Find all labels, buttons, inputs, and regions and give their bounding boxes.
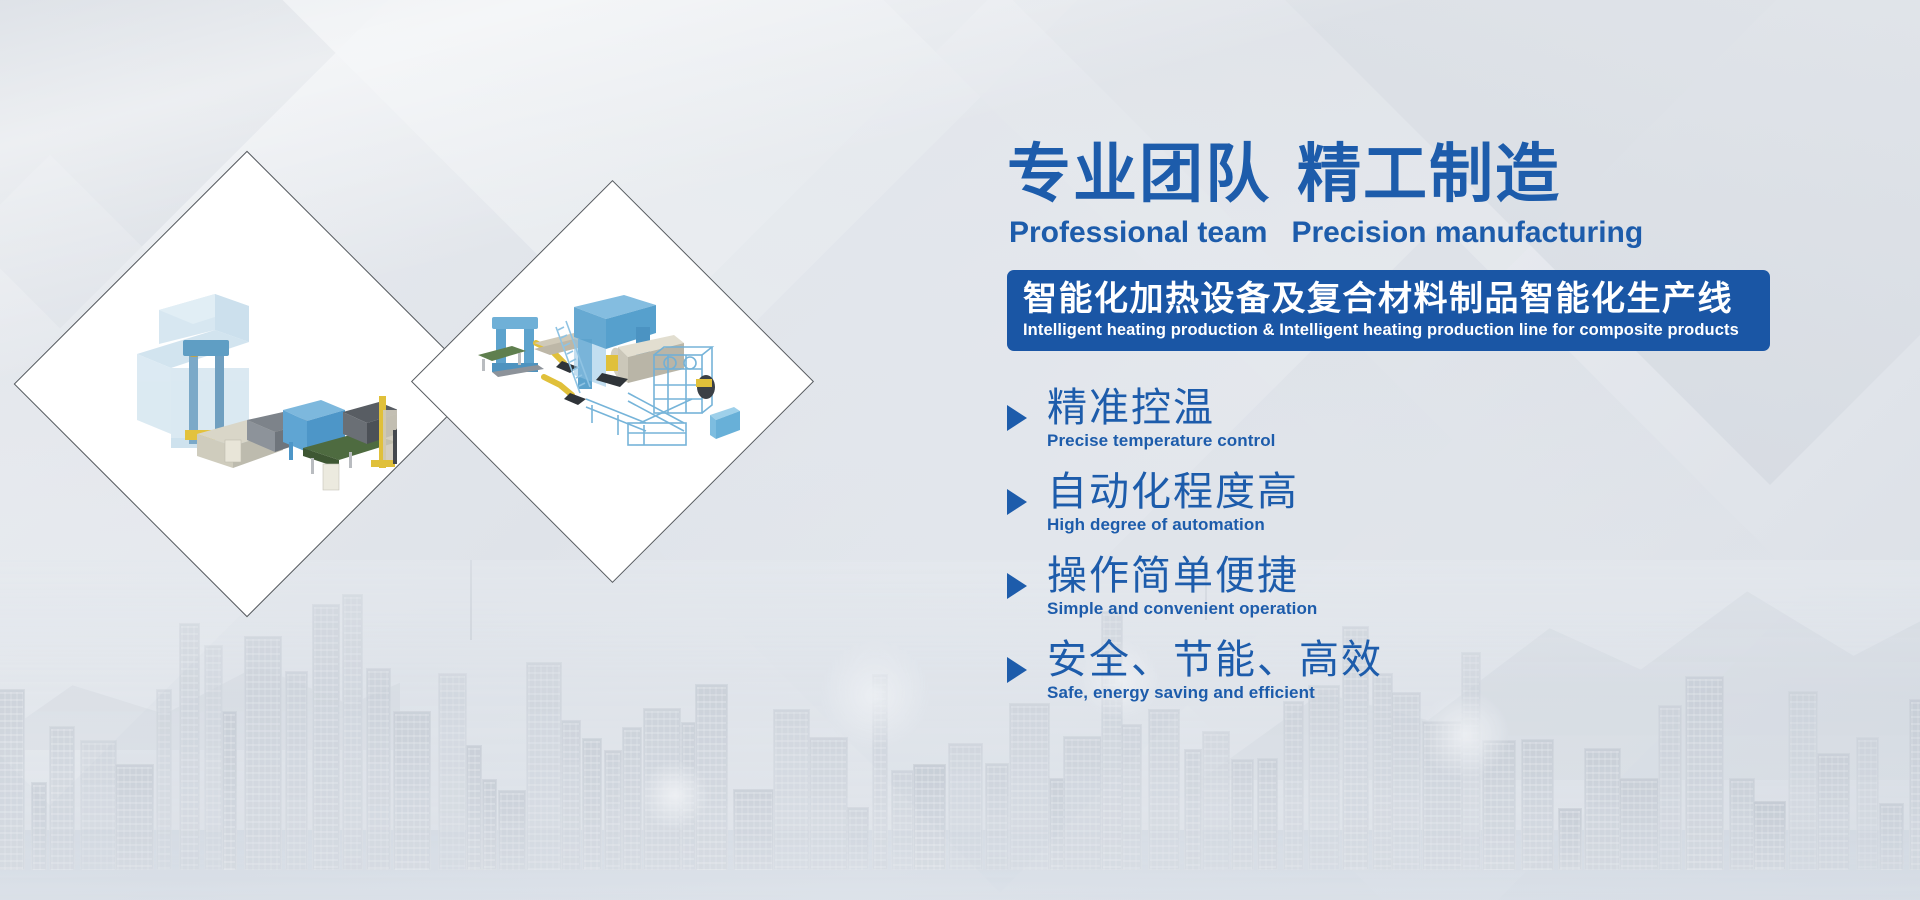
feature-label-en: Safe, energy saving and efficient xyxy=(1047,683,1383,703)
headline-part-1: 专业团队 xyxy=(1007,142,1271,206)
feature-label-cn: 安全、节能、高效 xyxy=(1047,639,1383,681)
feature-label-en: Simple and convenient operation xyxy=(1047,599,1317,619)
feature-text: 精准控温Precise temperature control xyxy=(1047,387,1276,451)
feature-item: 操作简单便捷Simple and convenient operation xyxy=(1007,555,1807,619)
feature-text: 操作简单便捷Simple and convenient operation xyxy=(1047,555,1317,619)
feature-label-cn: 自动化程度高 xyxy=(1047,471,1299,513)
product-title-bar: 智能化加热设备及复合材料制品智能化生产线 Intelligent heating… xyxy=(1007,270,1770,351)
headline-part-2: 精工制造 xyxy=(1297,142,1561,206)
product-title-cn: 智能化加热设备及复合材料制品智能化生产线 xyxy=(1023,280,1756,318)
diamond-inner xyxy=(471,240,754,523)
feature-label-en: Precise temperature control xyxy=(1047,431,1276,451)
diamond-inner xyxy=(83,220,411,548)
feature-item: 自动化程度高High degree of automation xyxy=(1007,471,1807,535)
headline: 专业团队 精工制造 xyxy=(1007,142,1807,206)
feature-list: 精准控温Precise temperature control自动化程度高Hig… xyxy=(1007,387,1807,703)
subheadline: Professional team Precision manufacturin… xyxy=(1009,216,1807,250)
triangle-right-icon xyxy=(1007,573,1027,599)
triangle-right-icon xyxy=(1007,489,1027,515)
feature-text: 自动化程度高High degree of automation xyxy=(1047,471,1299,535)
feature-label-cn: 操作简单便捷 xyxy=(1047,555,1317,597)
text-column: 专业团队 精工制造 Professional team Precision ma… xyxy=(1007,142,1807,723)
feature-text: 安全、节能、高效Safe, energy saving and efficien… xyxy=(1047,639,1383,703)
feature-label-cn: 精准控温 xyxy=(1047,387,1276,429)
subheadline-part-1: Professional team xyxy=(1009,216,1267,250)
triangle-right-icon xyxy=(1007,657,1027,683)
feature-item: 安全、节能、高效Safe, energy saving and efficien… xyxy=(1007,639,1807,703)
promo-banner: 专业团队 精工制造 Professional team Precision ma… xyxy=(0,0,1920,900)
machine-illustration-right xyxy=(478,247,748,517)
subheadline-part-2: Precision manufacturing xyxy=(1291,216,1643,250)
feature-label-en: High degree of automation xyxy=(1047,515,1299,535)
product-title-en: Intelligent heating production & Intelli… xyxy=(1023,321,1756,340)
feature-item: 精准控温Precise temperature control xyxy=(1007,387,1807,451)
machine-illustration-left xyxy=(97,234,397,534)
triangle-right-icon xyxy=(1007,405,1027,431)
